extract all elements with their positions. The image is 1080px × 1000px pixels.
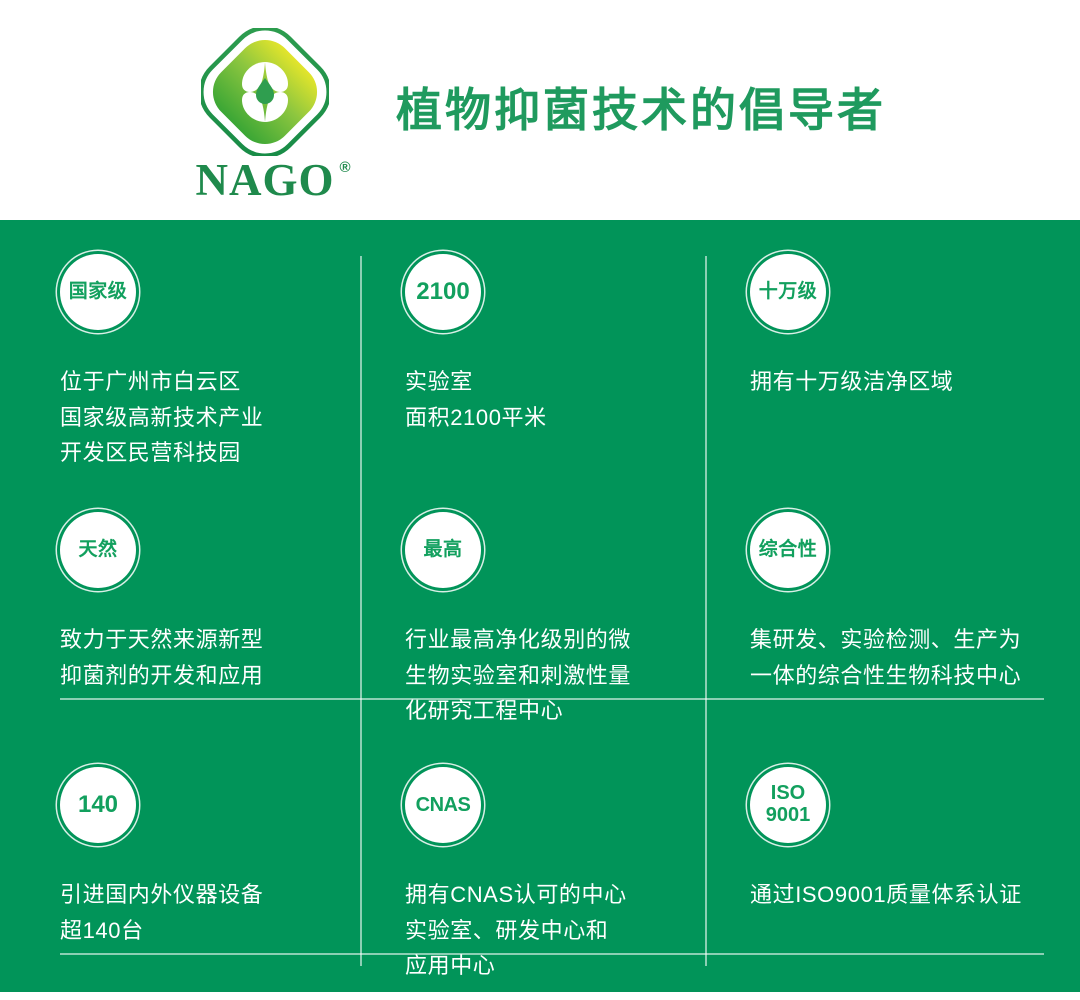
badge-label: 140 [78,792,118,817]
badge-circle: 国家级 [60,254,136,330]
registered-trademark-icon: ® [339,160,351,175]
brand-logo: NAGO ® [185,28,345,196]
highlight-cell: 国家级 位于广州市白云区 国家级高新技术产业 开发区民营科技园 [0,220,360,478]
highlight-description: 集研发、实验检测、生产为 一体的综合性生物科技中心 [750,622,1080,693]
badge-label: 天然 [78,540,117,560]
brand-wordmark: NAGO ® [196,158,335,203]
highlight-description: 实验室 面积2100平米 [405,364,705,435]
highlights-panel: 国家级 位于广州市白云区 国家级高新技术产业 开发区民营科技园 2100 实验室… [0,220,1080,992]
badge-circle: 天然 [60,512,136,588]
highlight-description: 位于广州市白云区 国家级高新技术产业 开发区民营科技园 [60,364,360,471]
badge-label: ISO 9001 [766,783,811,826]
nago-flower-logo-icon [201,28,329,156]
highlight-cell: 最高 行业最高净化级别的微 生物实验室和刺激性量 化研究工程中心 [360,478,705,733]
highlight-description: 行业最高净化级别的微 生物实验室和刺激性量 化研究工程中心 [405,622,705,729]
page-title: 植物抑菌技术的倡导者 [396,82,886,140]
grid-divider-horizontal [60,953,1044,955]
highlight-description: 拥有CNAS认可的中心 实验室、研发中心和 应用中心 [405,877,705,984]
badge-label: 十万级 [759,282,818,302]
badge-circle: 140 [60,767,136,843]
badge-circle: 2100 [405,254,481,330]
badge-label: 2100 [416,279,469,304]
highlights-grid: 国家级 位于广州市白云区 国家级高新技术产业 开发区民营科技园 2100 实验室… [0,220,1080,992]
company-profile-infographic: NAGO ® 植物抑菌技术的倡导者 国家级 位于广州市白云区 国家级高新技术产业… [0,0,1080,1000]
highlight-description: 通过ISO9001质量体系认证 [750,877,1080,913]
badge-circle: CNAS [405,767,481,843]
badge-label: CNAS [416,795,471,816]
brand-name-text: NAGO [196,155,335,205]
highlight-description: 引进国内外仪器设备 超140台 [60,877,360,948]
badge-circle: ISO 9001 [750,767,826,843]
badge-circle: 最高 [405,512,481,588]
page-header: NAGO ® 植物抑菌技术的倡导者 [0,0,1080,220]
highlight-cell: 综合性 集研发、实验检测、生产为 一体的综合性生物科技中心 [705,478,1080,733]
badge-label: 最高 [423,540,462,560]
highlight-cell: 十万级 拥有十万级洁净区域 [705,220,1080,478]
grid-divider-horizontal [60,698,1044,700]
grid-divider-vertical [360,256,362,966]
badge-circle: 十万级 [750,254,826,330]
highlight-description: 致力于天然来源新型 抑菌剂的开发和应用 [60,622,360,693]
highlight-cell: 天然 致力于天然来源新型 抑菌剂的开发和应用 [0,478,360,733]
badge-label: 国家级 [69,282,128,302]
highlight-cell: 2100 实验室 面积2100平米 [360,220,705,478]
badge-label: 综合性 [759,540,818,560]
grid-divider-vertical [705,256,707,966]
badge-circle: 综合性 [750,512,826,588]
highlight-description: 拥有十万级洁净区域 [750,364,1080,400]
